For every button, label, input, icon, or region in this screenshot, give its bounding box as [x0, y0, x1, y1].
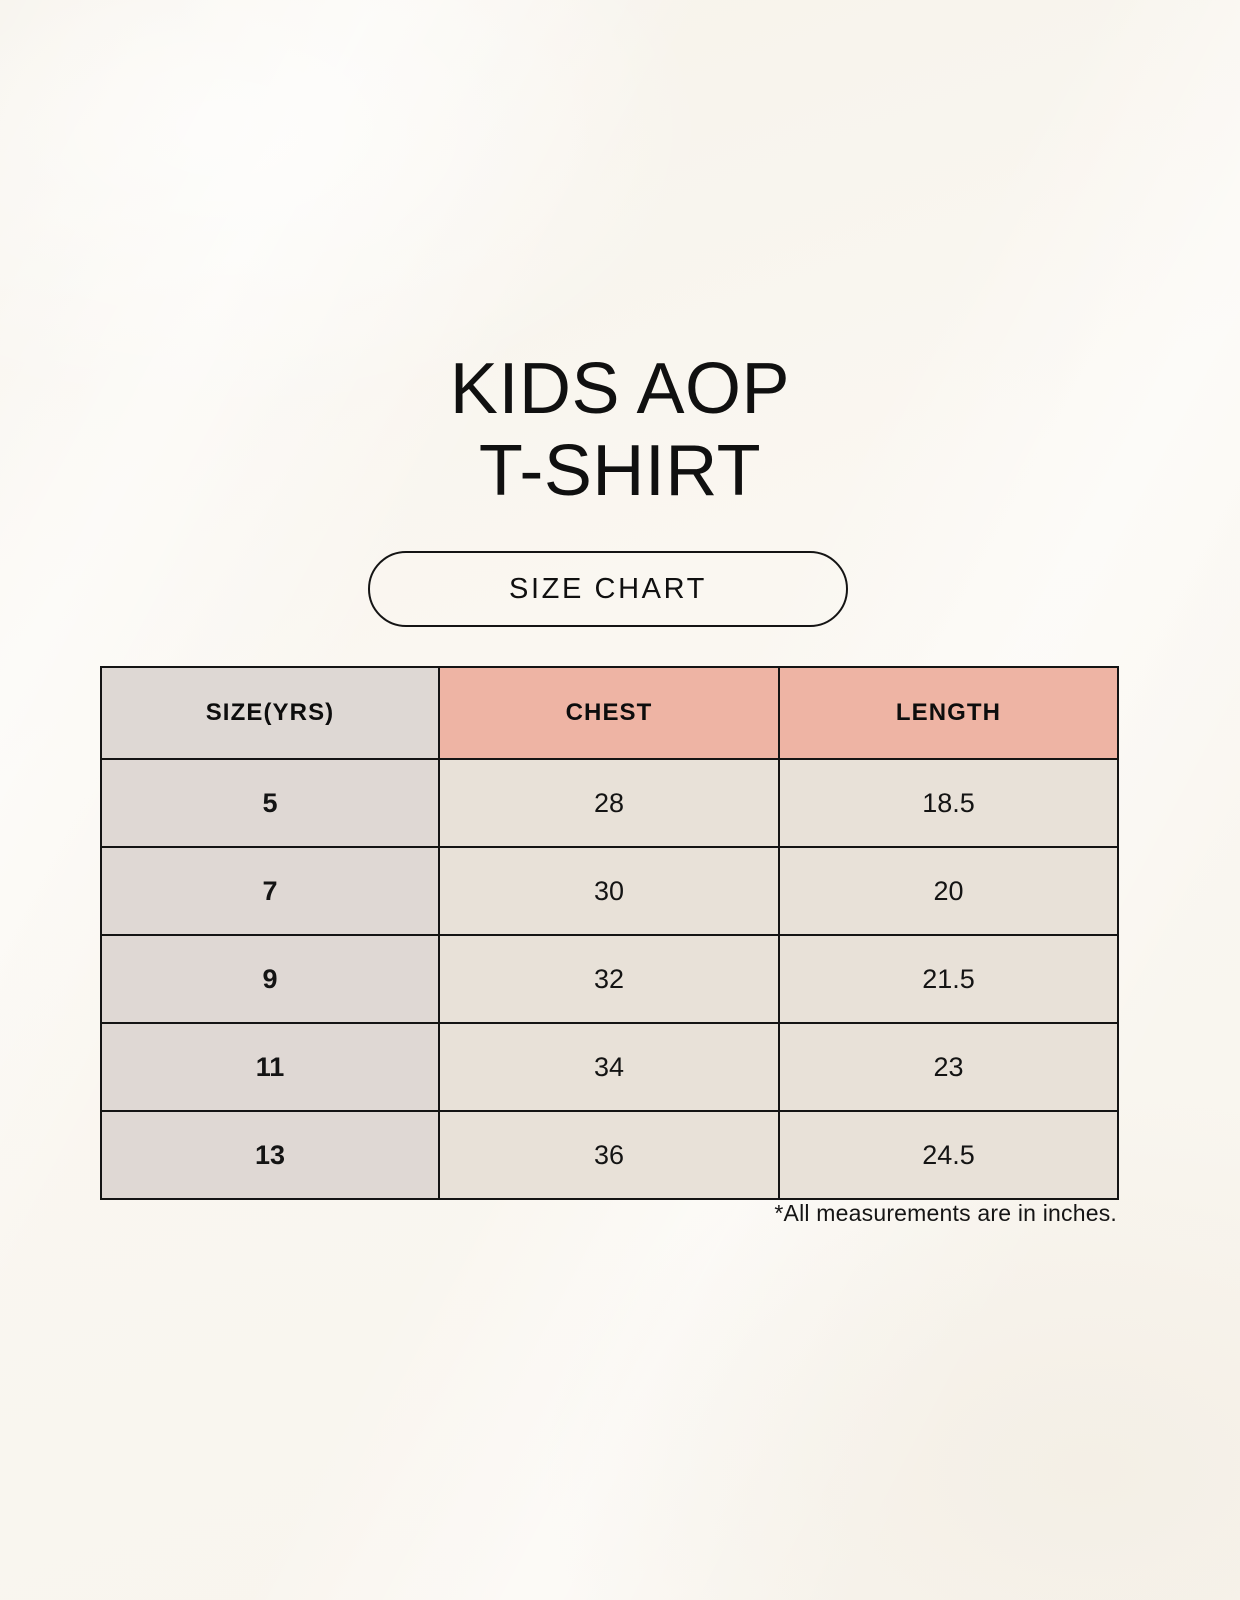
cell-length: 18.5 — [779, 759, 1118, 847]
column-header-length: LENGTH — [779, 667, 1118, 759]
table-header-row: SIZE(YRS) CHEST LENGTH — [101, 667, 1118, 759]
cell-size: 9 — [101, 935, 439, 1023]
page-title: KIDS AOP T-SHIRT — [0, 348, 1240, 512]
table-row: 9 32 21.5 — [101, 935, 1118, 1023]
cell-chest: 36 — [439, 1111, 779, 1199]
size-table-body: 5 28 18.5 7 30 20 9 32 21.5 11 34 23 — [101, 759, 1118, 1199]
size-table: SIZE(YRS) CHEST LENGTH 5 28 18.5 7 30 20… — [100, 666, 1119, 1200]
size-table-container: SIZE(YRS) CHEST LENGTH 5 28 18.5 7 30 20… — [100, 666, 1117, 1200]
table-row: 7 30 20 — [101, 847, 1118, 935]
cell-length: 21.5 — [779, 935, 1118, 1023]
cell-length: 23 — [779, 1023, 1118, 1111]
measurements-footnote: *All measurements are in inches. — [100, 1200, 1117, 1227]
cell-size: 7 — [101, 847, 439, 935]
column-header-size: SIZE(YRS) — [101, 667, 439, 759]
size-chart-badge-label: SIZE CHART — [509, 573, 707, 606]
table-row: 11 34 23 — [101, 1023, 1118, 1111]
size-chart-page: KIDS AOP T-SHIRT SIZE CHART SIZE(YRS) CH… — [0, 0, 1240, 1600]
cell-size: 11 — [101, 1023, 439, 1111]
cell-chest: 28 — [439, 759, 779, 847]
cell-chest: 30 — [439, 847, 779, 935]
cell-length: 20 — [779, 847, 1118, 935]
table-row: 13 36 24.5 — [101, 1111, 1118, 1199]
page-title-line-1: KIDS AOP — [0, 348, 1240, 430]
cell-chest: 34 — [439, 1023, 779, 1111]
cell-size: 13 — [101, 1111, 439, 1199]
table-row: 5 28 18.5 — [101, 759, 1118, 847]
cell-length: 24.5 — [779, 1111, 1118, 1199]
size-chart-badge: SIZE CHART — [368, 551, 848, 627]
cell-chest: 32 — [439, 935, 779, 1023]
column-header-chest: CHEST — [439, 667, 779, 759]
page-title-line-2: T-SHIRT — [0, 430, 1240, 512]
size-table-header: SIZE(YRS) CHEST LENGTH — [101, 667, 1118, 759]
cell-size: 5 — [101, 759, 439, 847]
